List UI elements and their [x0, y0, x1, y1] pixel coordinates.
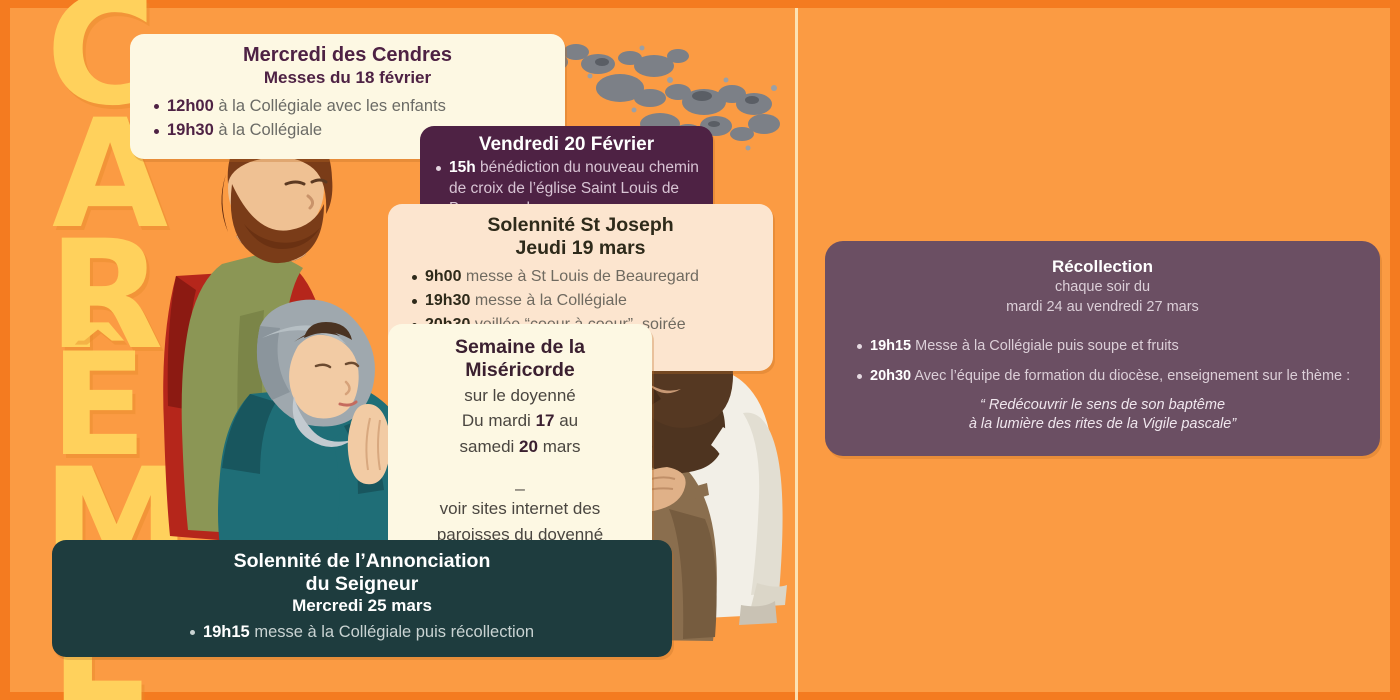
- event-time: 15h: [449, 159, 476, 176]
- card-solennite-annonciation: Solennité de l’Annonciation du Seigneur …: [52, 540, 672, 657]
- card-semaine-line-doyenne: sur le doyenné: [402, 385, 638, 407]
- event-time: 19h30: [425, 292, 470, 309]
- card-recollection-sub-2: mardi 24 au vendredi 27 mars: [849, 298, 1356, 317]
- event-text: Avec l’équipe de formation du diocèse, e…: [914, 368, 1350, 384]
- card-semaine-line-dates-2: samedi 20 mars: [402, 436, 638, 458]
- card-semaine-separator: _: [402, 472, 638, 492]
- card-annonciation-title: Solennité de l’Annonciation du Seigneur …: [68, 550, 656, 616]
- card-recollection-list: 19h15 Messe à la Collégiale puis soupe e…: [849, 337, 1356, 386]
- card-joseph-subtitle: Jeudi 19 mars: [515, 237, 645, 259]
- event-time: 19h15: [870, 338, 911, 354]
- joseph-and-mary-illustration: [118, 126, 428, 546]
- card-annonciation-subtitle: Mercredi 25 mars: [68, 596, 656, 616]
- card-semaine-title: Semaine de la Miséricorde: [402, 336, 638, 382]
- list-item: 12h00 à la Collégiale avec les enfants: [152, 96, 549, 117]
- event-text: à la Collégiale: [218, 121, 322, 139]
- card-recollection-title: Récollection: [849, 257, 1356, 277]
- card-recollection-sub-1: chaque soir du: [849, 278, 1356, 297]
- event-text: messe à la Collégiale puis récollection: [254, 623, 534, 641]
- card-cendres-subtitle: Messes du 18 février: [146, 68, 549, 88]
- card-joseph-title: Solennité St Joseph Jeudi 19 mars: [404, 214, 757, 260]
- event-text: messe à St Louis de Beauregard: [466, 268, 699, 285]
- panel-divider: [795, 8, 798, 700]
- event-time: 19h15: [203, 623, 250, 641]
- card-semaine-line-dates-1: Du mardi 17 au: [402, 410, 638, 432]
- list-item: 19h15 Messe à la Collégiale puis soupe e…: [855, 337, 1356, 356]
- card-cendres-title: Mercredi des Cendres Messes du 18 févrie…: [146, 44, 549, 88]
- card-recollection: Récollection chaque soir du mardi 24 au …: [825, 241, 1380, 456]
- list-item: 9h00 messe à St Louis de Beauregard: [410, 267, 757, 288]
- event-time: 12h00: [167, 97, 214, 115]
- card-recollection-quote: “ Redécouvrir le sens de son baptême à l…: [849, 396, 1356, 434]
- card-semaine-de-la-misericorde: Semaine de la Miséricorde sur le doyenné…: [388, 324, 652, 562]
- event-time: 20h30: [870, 368, 911, 384]
- card-semaine-line-sites-1: voir sites internet des: [402, 498, 638, 520]
- card-vendredi-title: Vendredi 20 Février: [434, 134, 699, 156]
- event-text: à la Collégiale avec les enfants: [218, 97, 445, 115]
- event-time: 19h30: [167, 121, 214, 139]
- quote-line-1: “ Redécouvrir le sens de son baptême: [849, 396, 1356, 415]
- event-text: Messe à la Collégiale puis soupe et frui…: [915, 338, 1179, 354]
- card-annonciation-list: 19h15 messe à la Collégiale puis récolle…: [68, 622, 656, 643]
- list-item: 20h30 Avec l’équipe de formation du dioc…: [855, 367, 1356, 386]
- list-item: 19h15 messe à la Collégiale puis récolle…: [68, 622, 656, 643]
- lent-program-poster: C A R Ê M E: [0, 0, 1400, 700]
- quote-line-2: à la lumière des rites de la Vigile pasc…: [849, 415, 1356, 434]
- list-item: 19h30 messe à la Collégiale: [410, 291, 757, 312]
- event-text: messe à la Collégiale: [475, 292, 627, 309]
- event-time: 9h00: [425, 268, 461, 285]
